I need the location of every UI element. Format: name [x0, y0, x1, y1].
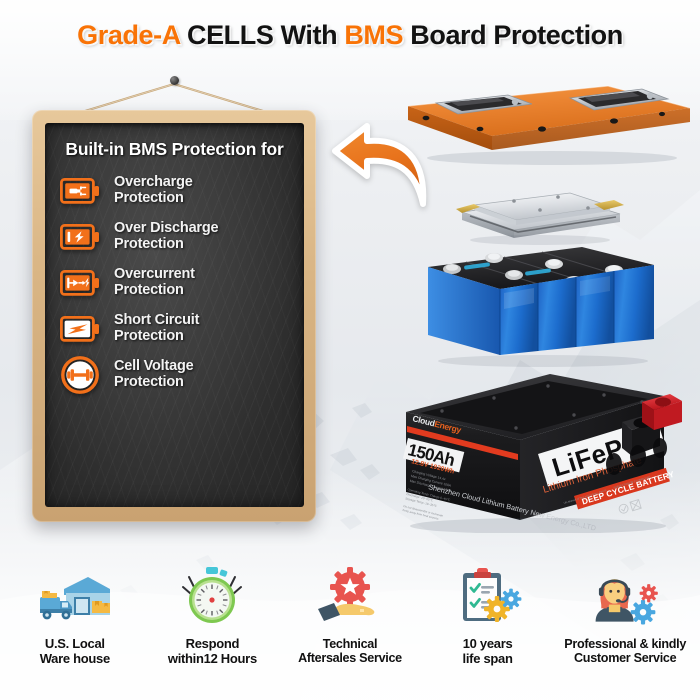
- bms-module-photo: [448, 178, 628, 246]
- bottom-feature-item: Professional & kindly Customer Service: [556, 561, 694, 665]
- bottom-feature-item: U.S. Local Ware house: [6, 561, 144, 666]
- list-item: Short Circuit Protection: [59, 312, 294, 346]
- bf-line-1: Respond: [186, 636, 240, 651]
- battery-short-circuit-icon: [59, 312, 101, 346]
- prismatic-cells-photo: [408, 243, 658, 369]
- bottom-feature-label: Technical Aftersales Service: [298, 637, 402, 665]
- lifepo4-battery-photo: CloudEnergy 150Ah 12.8V 1920Wh Charging …: [398, 368, 694, 533]
- cell-voltage-balance-icon: [59, 358, 101, 392]
- list-item-label: Overcurrent Protection: [114, 267, 195, 298]
- blackboard-panel: Built-in BMS Protection for: [24, 62, 324, 527]
- bf-line-1: Technical: [323, 637, 377, 651]
- list-item: Cell Voltage Protection: [59, 358, 294, 392]
- feature-line-1: Over Discharge: [114, 220, 218, 236]
- bottom-feature-strip: U.S. Local Ware house: [0, 555, 700, 700]
- curved-arrow-left-icon: [331, 118, 435, 216]
- feature-line-2: Protection: [114, 237, 218, 253]
- bf-line-1: 10 years: [463, 636, 513, 651]
- bottom-feature-item: Respond within12 Hours: [144, 561, 282, 666]
- bottom-feature-label: Professional & kindly Customer Service: [564, 637, 686, 665]
- battery-bolt-icon: [59, 220, 101, 254]
- protection-feature-list: Overcharge Protection: [55, 174, 294, 392]
- title-part-grade-a: Grade-A: [77, 20, 180, 50]
- feature-line-2: Protection: [114, 191, 193, 207]
- blackboard-frame: Built-in BMS Protection for: [32, 110, 316, 522]
- feature-line-2: Protection: [114, 329, 199, 345]
- clipboard-checklist-gear-icon: [451, 561, 525, 633]
- bms-board-photo: [392, 78, 692, 170]
- page-title: Grade-A CELLS With BMS Board Protection: [0, 20, 700, 51]
- list-item-label: Overcharge Protection: [114, 175, 193, 206]
- list-item: Overcharge Protection: [59, 174, 294, 208]
- header-title-bar: Grade-A CELLS With BMS Board Protection: [0, 20, 700, 51]
- feature-line-1: Cell Voltage: [114, 358, 194, 374]
- stopwatch-icon: [175, 561, 249, 633]
- bottom-feature-label: Respond within12 Hours: [168, 637, 257, 666]
- blackboard-heading: Built-in BMS Protection for: [55, 139, 294, 160]
- feature-line-2: Protection: [114, 283, 195, 299]
- feature-line-1: Overcharge: [114, 174, 193, 190]
- bf-line-2: Aftersales Service: [298, 651, 402, 665]
- list-item-label: Cell Voltage Protection: [114, 359, 194, 390]
- bf-line-1: U.S. Local: [45, 636, 105, 651]
- infographic-canvas: Grade-A CELLS With BMS Board Protection …: [0, 0, 700, 700]
- nail-icon: [170, 76, 179, 85]
- bf-line-2: within12 Hours: [168, 652, 257, 667]
- list-item: Over Discharge Protection: [59, 220, 294, 254]
- bottom-feature-label: 10 years life span: [463, 637, 513, 666]
- support-agent-icon: [588, 561, 662, 633]
- bf-line-2: Ware house: [40, 652, 110, 667]
- bottom-feature-item: Technical Aftersales Service: [281, 561, 419, 665]
- bottom-feature-item: 10 years life span: [419, 561, 557, 666]
- battery-plug-icon: [59, 174, 101, 208]
- warehouse-truck-icon: [38, 561, 112, 633]
- list-item-label: Short Circuit Protection: [114, 313, 199, 344]
- hand-gear-star-icon: [313, 561, 387, 633]
- feature-line-1: Overcurrent: [114, 266, 195, 282]
- feature-line-2: Protection: [114, 375, 194, 391]
- title-part-board-protection: Board Protection: [410, 20, 623, 50]
- bottom-feature-label: U.S. Local Ware house: [40, 637, 110, 666]
- bf-line-2: life span: [463, 652, 513, 667]
- bf-line-1: Professional & kindly: [564, 637, 686, 651]
- title-part-cells-with: CELLS With: [187, 20, 337, 50]
- blackboard-surface: Built-in BMS Protection for: [45, 123, 304, 507]
- list-item-label: Over Discharge Protection: [114, 221, 218, 252]
- battery-current-icon: [59, 266, 101, 300]
- bf-line-2: Customer Service: [564, 651, 686, 665]
- title-part-bms: BMS: [344, 20, 403, 50]
- feature-line-1: Short Circuit: [114, 312, 199, 328]
- list-item: Overcurrent Protection: [59, 266, 294, 300]
